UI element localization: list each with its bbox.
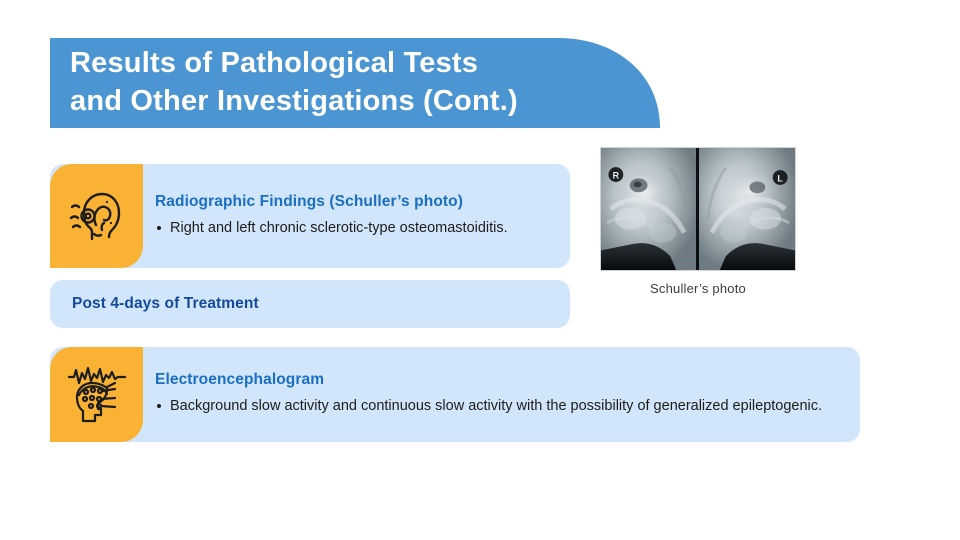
mastoid-radiograph-image: R L — [601, 148, 795, 270]
slide-header-banner: Results of Pathological Tests and Other … — [50, 38, 660, 128]
card-body-post-treatment: Post 4-days of Treatment — [72, 280, 556, 328]
eeg-head-icon — [65, 363, 129, 427]
card-heading-post-treatment: Post 4-days of Treatment — [72, 295, 556, 313]
bullet-item: Right and left chronic sclerotic-type os… — [155, 218, 556, 239]
xray-caption: Schuller’s photo — [600, 281, 796, 296]
icon-tile-radiographic — [50, 164, 143, 268]
card-electroencephalogram: Electroencephalogram Background slow act… — [50, 347, 860, 442]
slide-canvas: Results of Pathological Tests and Other … — [0, 0, 960, 540]
page-title: Results of Pathological Tests and Other … — [70, 44, 640, 121]
card-heading-eeg: Electroencephalogram — [155, 371, 846, 389]
ear-examination-icon — [66, 185, 128, 247]
bullet-list-radiographic: Right and left chronic sclerotic-type os… — [155, 218, 556, 239]
card-radiographic-findings: Radiographic Findings (Schuller’s photo)… — [50, 164, 570, 268]
card-body-eeg: Electroencephalogram Background slow act… — [155, 347, 846, 442]
icon-tile-eeg — [50, 347, 143, 442]
xray-marker-right: R — [613, 171, 620, 181]
card-body-radiographic: Radiographic Findings (Schuller’s photo)… — [155, 164, 556, 268]
xray-marker-left: L — [777, 173, 783, 183]
bullet-list-eeg: Background slow activity and continuous … — [155, 396, 846, 417]
card-post-treatment: Post 4-days of Treatment — [50, 280, 570, 328]
bullet-item: Background slow activity and continuous … — [155, 396, 846, 417]
xray-image-frame: R L — [600, 147, 796, 271]
schuller-xray-figure: R L — [600, 147, 796, 296]
card-heading-radiographic: Radiographic Findings (Schuller’s photo) — [155, 193, 556, 211]
